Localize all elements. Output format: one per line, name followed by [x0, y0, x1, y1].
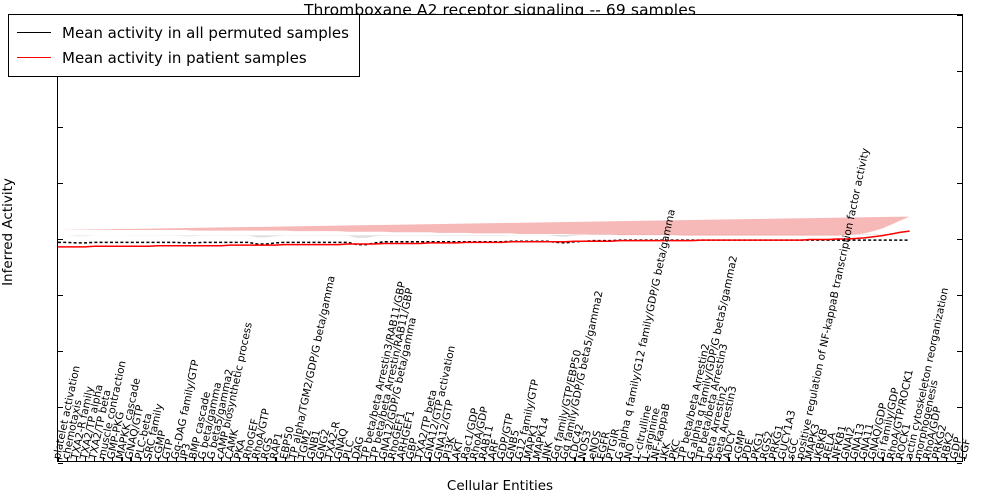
legend-line-swatch-black [17, 32, 51, 33]
y-tick-mark [957, 407, 962, 408]
y-tick-mark [957, 295, 962, 296]
y-tick-mark [58, 127, 63, 128]
y-tick-mark [58, 295, 63, 296]
y-tick-mark [58, 183, 63, 184]
x-axis-label: Cellular Entities [0, 478, 1000, 494]
legend: Mean activity in all permuted samples Me… [8, 14, 360, 77]
legend-line-swatch-red [17, 57, 51, 58]
chart-root: Thromboxane A2 receptor signaling -- 69 … [0, 0, 1000, 500]
y-tick-mark [957, 239, 962, 240]
legend-item-patient: Mean activity in patient samples [17, 45, 349, 70]
y-tick-mark [58, 463, 63, 464]
y-tick-mark [957, 71, 962, 72]
y-tick-mark [957, 15, 962, 16]
y-tick-mark [58, 239, 63, 240]
x-axis-ticks: platelet activationchemotaxisTXA2-R fami… [58, 15, 962, 461]
x-tick-label: positive regulation of NF-kappaB transcr… [795, 147, 871, 460]
legend-label-patient: Mean activity in patient samples [62, 49, 307, 67]
y-tick-mark [957, 463, 962, 464]
plot-area: platelet activationchemotaxisTXA2-R fami… [57, 14, 963, 462]
legend-label-permuted: Mean activity in all permuted samples [62, 24, 349, 42]
y-tick-mark [957, 351, 962, 352]
x-tick-label: EGF [958, 437, 973, 460]
y-tick-mark [58, 351, 63, 352]
y-tick-mark [58, 407, 63, 408]
legend-item-permuted: Mean activity in all permuted samples [17, 20, 349, 45]
y-tick-mark [957, 127, 962, 128]
y-tick-mark [957, 183, 962, 184]
